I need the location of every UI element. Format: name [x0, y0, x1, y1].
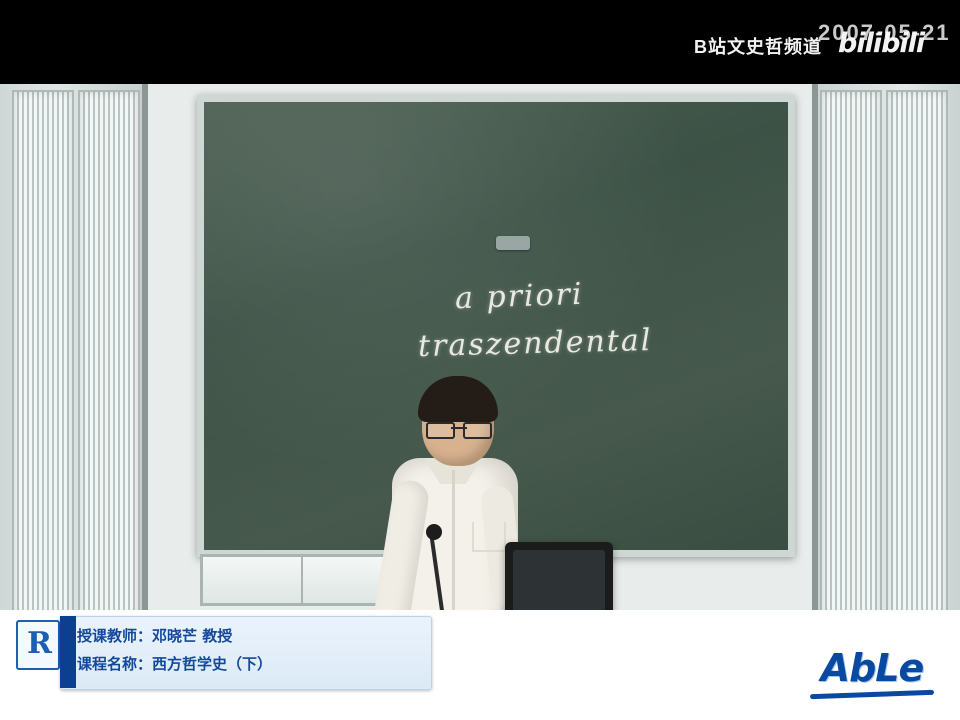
institution-logo: R	[16, 620, 60, 670]
lecturer-shirt-placket	[452, 470, 455, 620]
left-window-blind-1	[12, 90, 74, 634]
course-label: 课程名称：西方哲学史（下）	[77, 653, 272, 675]
brand-logo: AbLe	[802, 640, 942, 710]
lecturer-shirt-pocket	[472, 522, 506, 552]
info-panel-accent-strip	[60, 616, 76, 688]
institution-logo-letter: R	[27, 626, 52, 661]
microphone-icon	[426, 524, 442, 540]
left-window-blind-2	[78, 90, 140, 634]
brand-logo-underline	[810, 690, 934, 699]
channel-watermark: B站文史哲频道	[694, 33, 822, 59]
right-window-blind-2	[886, 90, 948, 634]
bilibili-logo-watermark: bilibili	[838, 28, 924, 59]
glasses-icon	[426, 422, 492, 435]
course-info-panel: 授课教师：邓晓芒 教授 课程名称：西方哲学史（下）	[60, 616, 432, 690]
video-player-frame: B站文史哲频道 2007-05-21 bilibili a priori tra…	[0, 0, 960, 720]
right-window-blind-1	[820, 90, 882, 634]
teacher-label: 授课教师：邓晓芒 教授	[77, 625, 232, 647]
lecturer-hair	[418, 376, 498, 422]
brand-logo-text: AbLe	[802, 646, 942, 690]
